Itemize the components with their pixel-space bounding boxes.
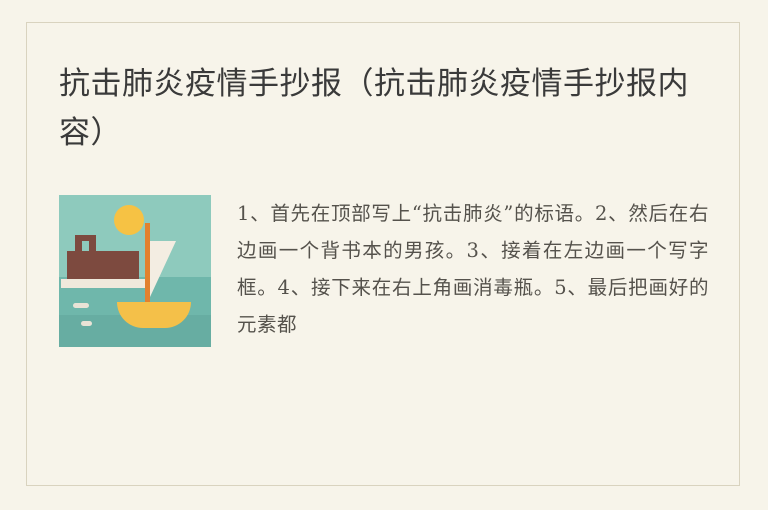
sun-icon	[114, 205, 144, 235]
boat-sail	[150, 241, 176, 297]
water-dash-one	[73, 303, 89, 308]
sailboat-pier-illustration-icon	[59, 195, 211, 347]
pier-deck	[61, 279, 145, 288]
pier-post-right	[89, 235, 96, 255]
article-content-row: 1、首先在顶部写上“抗击肺炎”的标语。2、然后在右边画一个背书本的男孩。3、接着…	[59, 195, 709, 347]
article-excerpt: 1、首先在顶部写上“抗击肺炎”的标语。2、然后在右边画一个背书本的男孩。3、接着…	[237, 195, 709, 343]
pier-post-left	[75, 235, 82, 255]
article-card: 抗击肺炎疫情手抄报（抗击肺炎疫情手抄报内容） 1、首先在顶部写上“抗击肺炎”的标…	[26, 22, 740, 486]
pier-block	[67, 251, 139, 281]
water-dash-two	[81, 321, 92, 326]
page-title: 抗击肺炎疫情手抄报（抗击肺炎疫情手抄报内容）	[59, 59, 699, 157]
